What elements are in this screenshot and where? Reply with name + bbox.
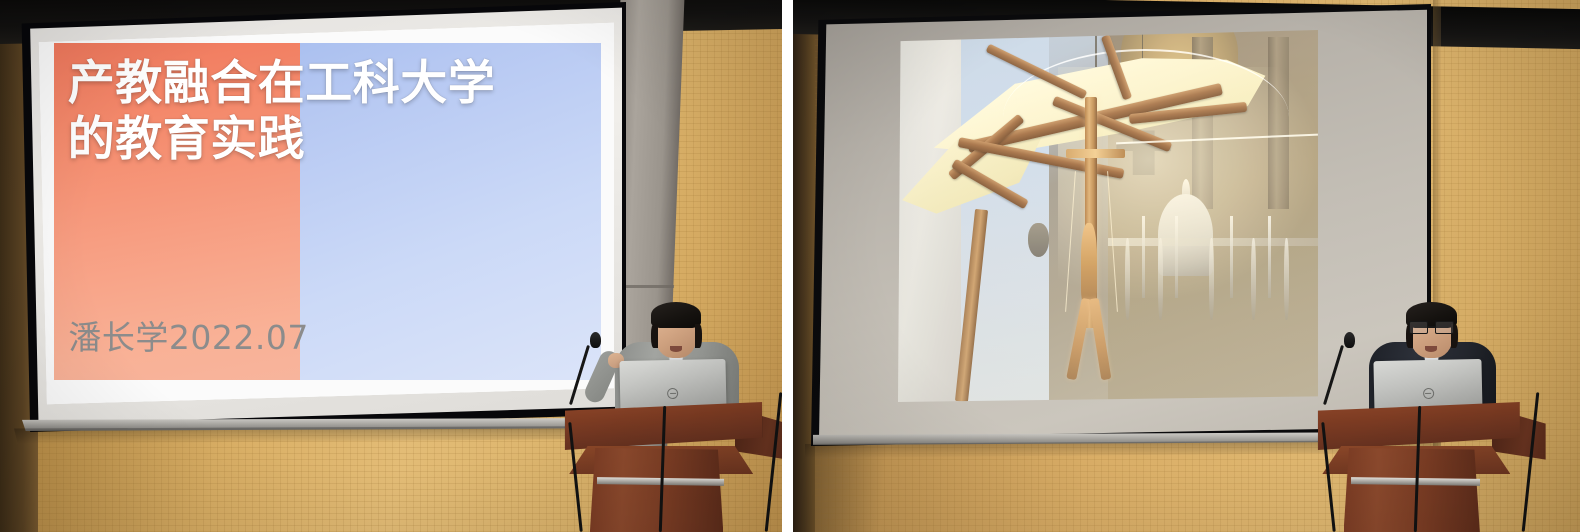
- glasses-lens-right: [1435, 321, 1454, 334]
- microphone-stand-icon: [1323, 345, 1344, 405]
- slide-title: 产教融合在工科大学 的教育实践: [68, 56, 594, 167]
- glasses-lens-left: [1409, 321, 1428, 334]
- speaker-hair-right: [695, 324, 702, 348]
- podium-base: [1344, 448, 1480, 532]
- podium-area-right: [1313, 327, 1548, 532]
- speaker-hair: [651, 302, 701, 328]
- slide-canvas: 产教融合在工科大学 的教育实践 潘长学2022.07: [36, 22, 614, 405]
- slide-title-line-2: 的教育实践: [68, 112, 594, 167]
- podium-left: [560, 402, 782, 532]
- presentation-slide-right: [898, 30, 1318, 402]
- projection-haze: [898, 30, 1318, 402]
- glasses-bridge: [1428, 326, 1435, 328]
- photo-panel-left: 产教融合在工科大学 的教育实践 潘长学2022.07: [0, 0, 782, 532]
- slide-title-line-1: 产教融合在工科大学: [68, 56, 496, 111]
- microphone-head-icon: [1344, 332, 1355, 348]
- podium-base: [590, 448, 723, 532]
- photo-panel-right: [793, 0, 1580, 532]
- eyeglasses-icon: [1409, 321, 1455, 334]
- speaker-mouth: [670, 346, 682, 352]
- photo-composite: 产教融合在工科大学 的教育实践 潘长学2022.07: [0, 0, 1580, 532]
- dell-logo-icon: [667, 388, 678, 399]
- slide-byline: 潘长学2022.07: [68, 311, 308, 359]
- podium-right: [1313, 402, 1548, 532]
- microphone-head-icon: [590, 332, 601, 348]
- speaker-hair-left: [651, 324, 658, 348]
- podium-area-left: [560, 302, 782, 532]
- dell-logo-icon: [1423, 388, 1434, 399]
- presentation-slide-left: 产教融合在工科大学 的教育实践 潘长学2022.07: [36, 22, 614, 405]
- panel-divider: [782, 0, 793, 532]
